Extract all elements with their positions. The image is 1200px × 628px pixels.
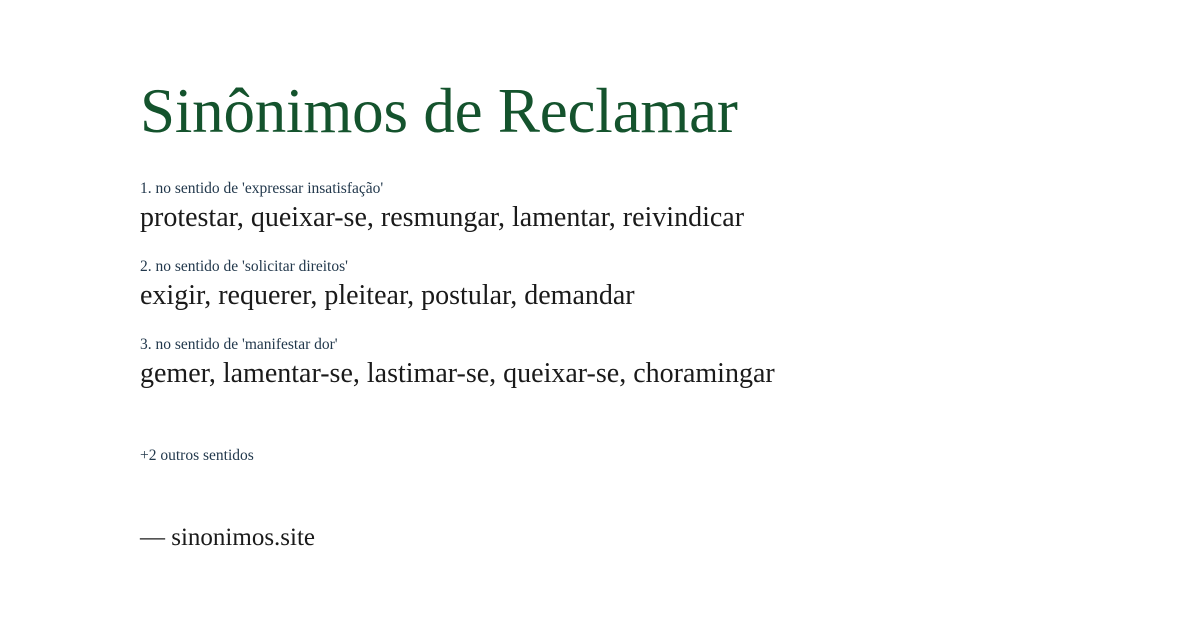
sense-block: 3. no sentido de 'manifestar dor' gemer,… [140, 335, 1080, 391]
sense-block: 2. no sentido de 'solicitar direitos' ex… [140, 257, 1080, 313]
page-title: Sinônimos de Reclamar [140, 76, 738, 147]
sense-label: 2. no sentido de 'solicitar direitos' [140, 257, 1080, 276]
sense-list: 1. no sentido de 'expressar insatisfação… [140, 179, 1080, 413]
sense-label: 3. no sentido de 'manifestar dor' [140, 335, 1080, 354]
sense-label: 1. no sentido de 'expressar insatisfação… [140, 179, 1080, 198]
sense-synonyms: gemer, lamentar-se, lastimar-se, queixar… [140, 357, 1080, 391]
synonym-card: Sinônimos de Reclamar 1. no sentido de '… [0, 0, 1200, 628]
sense-block: 1. no sentido de 'expressar insatisfação… [140, 179, 1080, 235]
sense-synonyms: exigir, requerer, pleitear, postular, de… [140, 279, 1080, 313]
more-senses-note: +2 outros sentidos [140, 446, 254, 465]
source-attribution: — sinonimos.site [140, 522, 315, 555]
sense-synonyms: protestar, queixar-se, resmungar, lament… [140, 201, 1080, 235]
